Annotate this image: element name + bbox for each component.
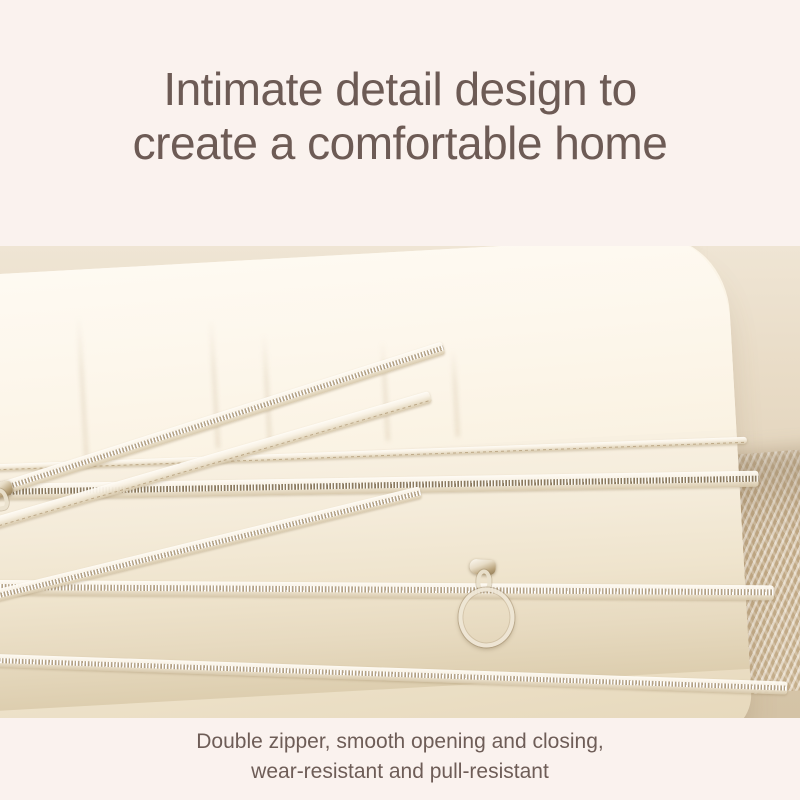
caption-line-2: wear-resistant and pull-resistant	[251, 757, 549, 787]
fabric-fold	[77, 316, 88, 458]
caption-line-1: Double zipper, smooth opening and closin…	[196, 727, 603, 757]
headline-line-1: Intimate detail design to	[163, 62, 636, 116]
headline-line-2: create a comfortable home	[133, 116, 668, 170]
product-detail-banner: Intimate detail design to create a comfo…	[0, 0, 800, 800]
fabric-fold	[381, 341, 390, 441]
fabric-fold	[451, 349, 459, 437]
fabric-fold	[262, 333, 271, 445]
right-zipper-pull-ring[interactable]	[458, 587, 514, 647]
header-banner: Intimate detail design to create a comfo…	[0, 0, 800, 246]
pillow-body	[0, 246, 753, 718]
product-photo	[0, 246, 800, 718]
caption-block: Double zipper, smooth opening and closin…	[0, 718, 800, 800]
